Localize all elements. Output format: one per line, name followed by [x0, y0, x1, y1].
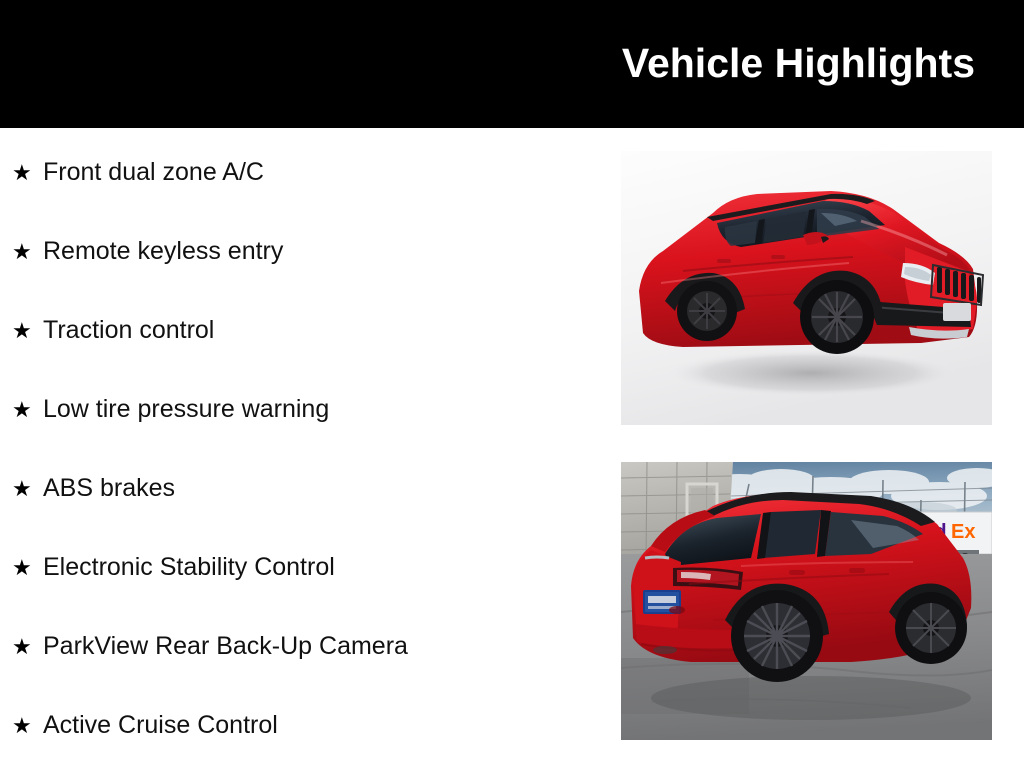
vehicle-rear-quarter-illustration: Fed Ex	[621, 462, 992, 740]
feature-label: ParkView Rear Back-Up Camera	[43, 634, 408, 659]
star-icon: ★	[12, 715, 43, 737]
feature-label: Active Cruise Control	[43, 713, 278, 738]
star-icon: ★	[12, 478, 43, 500]
star-icon: ★	[12, 162, 43, 184]
feature-label: Remote keyless entry	[43, 239, 283, 264]
feature-label: Electronic Stability Control	[43, 555, 335, 580]
star-icon: ★	[12, 320, 43, 342]
vehicle-photo-rear-quarter[interactable]: Fed Ex	[621, 462, 992, 740]
list-item: ★ Active Cruise Control	[12, 713, 278, 738]
list-item: ★ ABS brakes	[12, 476, 175, 501]
list-item: ★ Remote keyless entry	[12, 239, 283, 264]
star-icon: ★	[12, 399, 43, 421]
feature-label: Low tire pressure warning	[43, 397, 329, 422]
list-item: ★ Low tire pressure warning	[12, 397, 329, 422]
star-icon: ★	[12, 636, 43, 658]
feature-label: ABS brakes	[43, 476, 175, 501]
page-title: Vehicle Highlights	[622, 40, 975, 86]
vehicle-photo-front-quarter[interactable]	[621, 151, 992, 425]
list-item: ★ Traction control	[12, 318, 214, 343]
list-item: ★ Front dual zone A/C	[12, 160, 264, 185]
list-item: ★ ParkView Rear Back-Up Camera	[12, 634, 408, 659]
feature-label: Traction control	[43, 318, 214, 343]
vehicle-highlights-list: ★ Front dual zone A/C ★ Remote keyless e…	[0, 128, 600, 768]
vehicle-front-quarter-illustration	[621, 151, 992, 425]
list-item: ★ Electronic Stability Control	[12, 555, 335, 580]
star-icon: ★	[12, 557, 43, 579]
header-bar: Vehicle Highlights	[0, 0, 1024, 128]
feature-label: Front dual zone A/C	[43, 160, 264, 185]
star-icon: ★	[12, 241, 43, 263]
svg-text:Ex: Ex	[951, 521, 975, 543]
